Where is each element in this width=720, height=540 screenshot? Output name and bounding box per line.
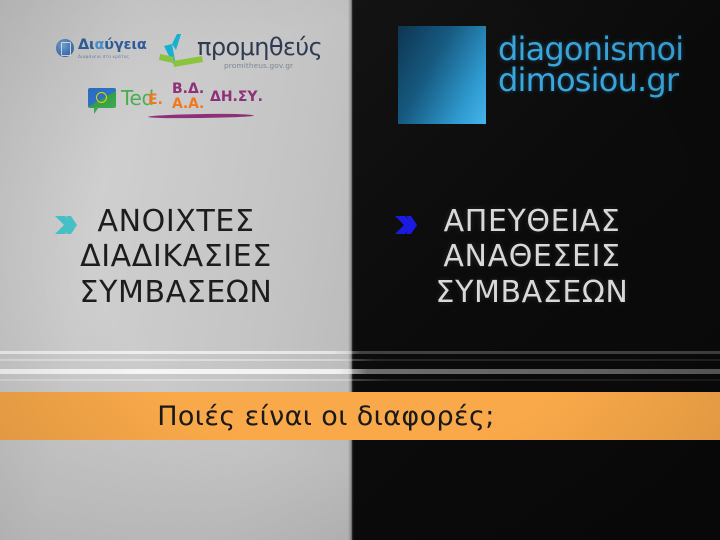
headline-line-2: ΑΝΑΘΕΣΕΙΣ [382, 239, 682, 274]
eaadhsy-part-3: Α.Α. [172, 97, 204, 111]
double-chevron-right-icon [394, 214, 418, 236]
headline-line-1: ΑΠΕΥΘΕΙΑΣ [382, 204, 682, 239]
logo-promitheus: προμηθεύς promitheus.gov.gr [158, 26, 316, 84]
diavgeia-tagline: Διαφάνεια στο κράτος [78, 55, 147, 59]
brand-wordmark: diagonismoi dimosiou.gr [498, 34, 683, 97]
eaadhsy-underline-icon [148, 113, 254, 118]
diavgeia-name-suffix: ύγεια [104, 37, 146, 53]
diavgeia-name-prefix: Δι [78, 37, 94, 53]
diavgeia-name-accent: α [94, 37, 104, 53]
promitheus-wordmark: προμηθεύς [197, 35, 322, 59]
eaadhsy-part-4: ΔΗ.ΣΥ. [210, 90, 263, 104]
brand-logo: diagonismoi dimosiou.gr [398, 26, 698, 130]
logo-cluster: Διαύγεια Διαφάνεια στο κράτος προμηθεύς … [40, 26, 310, 136]
blue-gradient-square-icon [398, 26, 486, 124]
panel-divider [348, 0, 354, 540]
logo-eaadhsy: Ε. Β.Δ. Α.Α. ΔΗ.ΣΥ. [148, 82, 258, 128]
headline-direct-awards: ΑΠΕΥΘΕΙΑΣ ΑΝΑΘΕΣΕΙΣ ΣΥΜΒΑΣΕΩΝ [382, 204, 682, 310]
question-banner-text: Ποιές είναι οι διαφορές; [157, 401, 495, 432]
diavgeia-name: Διαύγεια [78, 38, 147, 53]
diavgeia-wordmark: Διαύγεια Διαφάνεια στο κράτος [78, 38, 147, 59]
logo-diavgeia: Διαύγεια Διαφάνεια στο κράτος [56, 38, 147, 59]
eu-speech-bubble-icon [88, 88, 116, 108]
double-chevron-right-icon [54, 214, 78, 236]
headline-line-2: ΔΙΑΔΙΚΑΣΙΕΣ [26, 239, 326, 274]
promitheus-url: promitheus.gov.gr [224, 61, 293, 70]
headline-open-procedures: ΑΝΟΙΧΤΕΣ ΔΙΑΔΙΚΑΣΙΕΣ ΣΥΜΒΑΣΕΩΝ [26, 204, 326, 310]
logo-ted: Ted [88, 88, 154, 108]
headline-line-3: ΣΥΜΒΑΣΕΩΝ [26, 275, 326, 310]
eaadhsy-part-2: Β.Δ. [172, 82, 204, 96]
headline-lines: ΑΠΕΥΘΕΙΑΣ ΑΝΑΘΕΣΕΙΣ ΣΥΜΒΑΣΕΩΝ [382, 204, 682, 310]
eaadhsy-part-1: Ε. [148, 93, 163, 107]
brand-line-2: dimosiou.gr [498, 65, 683, 96]
greek-government-seal-icon [56, 39, 74, 57]
question-banner: Ποιές είναι οι διαφορές; [0, 392, 720, 440]
headline-line-3: ΣΥΜΒΑΣΕΩΝ [382, 275, 682, 310]
slide-canvas: Διαύγεια Διαφάνεια στο κράτος προμηθεύς … [0, 0, 720, 540]
